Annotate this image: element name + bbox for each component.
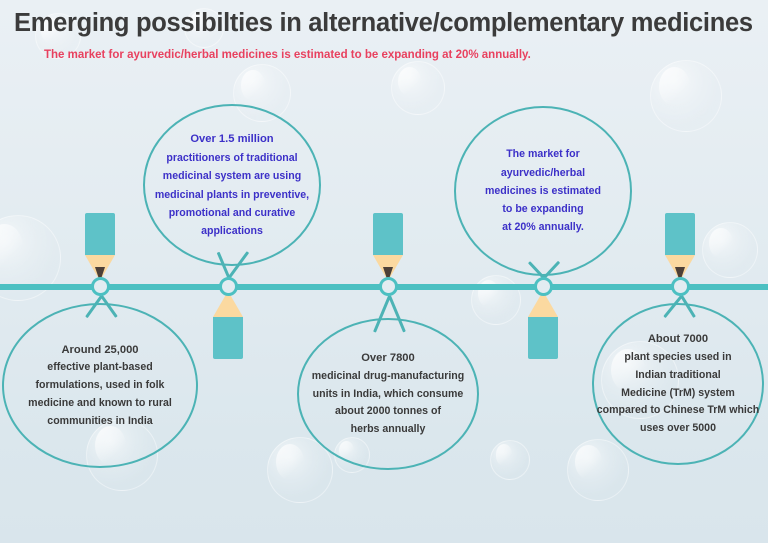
callout-line: plant species used in: [624, 349, 731, 367]
callout-lead-line: About 7000: [648, 330, 708, 349]
callout-line: Indian traditional: [635, 367, 720, 385]
timeline-node[interactable]: [219, 277, 238, 296]
pencil-body: [528, 317, 558, 359]
callout-text: Over 7800medicinal drug-manufacturinguni…: [310, 318, 467, 470]
callout-text: Over 1.5 millionpractitioners of traditi…: [155, 104, 308, 266]
callout-line: about 2000 tonnes of: [335, 403, 441, 421]
pencil-icon: [213, 290, 243, 359]
callout-lead-line: Around 25,000: [61, 341, 138, 360]
callout-line: applications: [201, 222, 263, 240]
timeline-node[interactable]: [91, 277, 110, 296]
callout-line: compared to Chinese TrM which: [597, 402, 759, 420]
page-title: Emerging possibilties in alternative/com…: [14, 9, 753, 38]
callout-line: Medicine (TrM) system: [621, 385, 735, 403]
callout-line: medicinal plants in preventive,: [155, 186, 309, 204]
callout-line: at 20% annually.: [502, 218, 584, 236]
callout-line: practitioners of traditional: [166, 149, 297, 167]
callout-line: effective plant-based: [47, 359, 152, 377]
decorative-bubble: [702, 222, 758, 278]
callout-line: medicinal drug-manufacturing: [312, 368, 464, 386]
pencil-body: [213, 317, 243, 359]
callout-line: medicines is estimated: [485, 182, 601, 200]
callout-lead-line: Over 7800: [361, 349, 415, 368]
callout-bubble[interactable]: Over 7800medicinal drug-manufacturinguni…: [297, 318, 479, 470]
callout-bubble[interactable]: About 7000plant species used inIndian tr…: [592, 303, 764, 465]
decorative-bubble: [490, 440, 530, 480]
page-subtitle: The market for ayurvedic/herbal medicine…: [44, 49, 531, 61]
callout-line: ayurvedic/herbal: [501, 164, 585, 182]
callout-line: promotional and curative: [169, 204, 296, 222]
callout-line: uses over 5000: [640, 420, 716, 438]
timeline-node[interactable]: [671, 277, 690, 296]
pencil-icon: [665, 213, 695, 282]
callout-text: The market forayurvedic/herbalmedicines …: [466, 106, 619, 276]
callout-text: About 7000plant species used inIndian tr…: [604, 303, 752, 465]
callout-line: herbs annually: [351, 421, 426, 439]
pencil-body: [85, 213, 115, 255]
pencil-body: [665, 213, 695, 255]
callout-line: to be expanding: [502, 200, 583, 218]
header: Emerging possibilties in alternative/com…: [0, 0, 768, 76]
callout-line: formulations, used in folk: [36, 377, 165, 395]
callout-line: communities in India: [47, 413, 152, 431]
pencil-icon: [528, 290, 558, 359]
callout-text: Around 25,000effective plant-basedformul…: [16, 303, 185, 468]
timeline-node[interactable]: [534, 277, 553, 296]
pencil-icon: [373, 213, 403, 282]
callout-bubble[interactable]: The market forayurvedic/herbalmedicines …: [454, 106, 632, 276]
pencil-icon: [85, 213, 115, 282]
timeline-node[interactable]: [379, 277, 398, 296]
infographic-canvas: Emerging possibilties in alternative/com…: [0, 0, 768, 543]
callout-line: medicinal system are using: [163, 167, 301, 185]
callout-line: units in India, which consume: [313, 386, 464, 404]
callout-bubble[interactable]: Over 1.5 millionpractitioners of traditi…: [143, 104, 321, 266]
pencil-body: [373, 213, 403, 255]
callout-lead-line: Over 1.5 million: [190, 130, 273, 149]
callout-line: medicine and known to rural: [28, 395, 172, 413]
callout-bubble[interactable]: Around 25,000effective plant-basedformul…: [2, 303, 198, 468]
callout-line: The market for: [506, 145, 580, 163]
